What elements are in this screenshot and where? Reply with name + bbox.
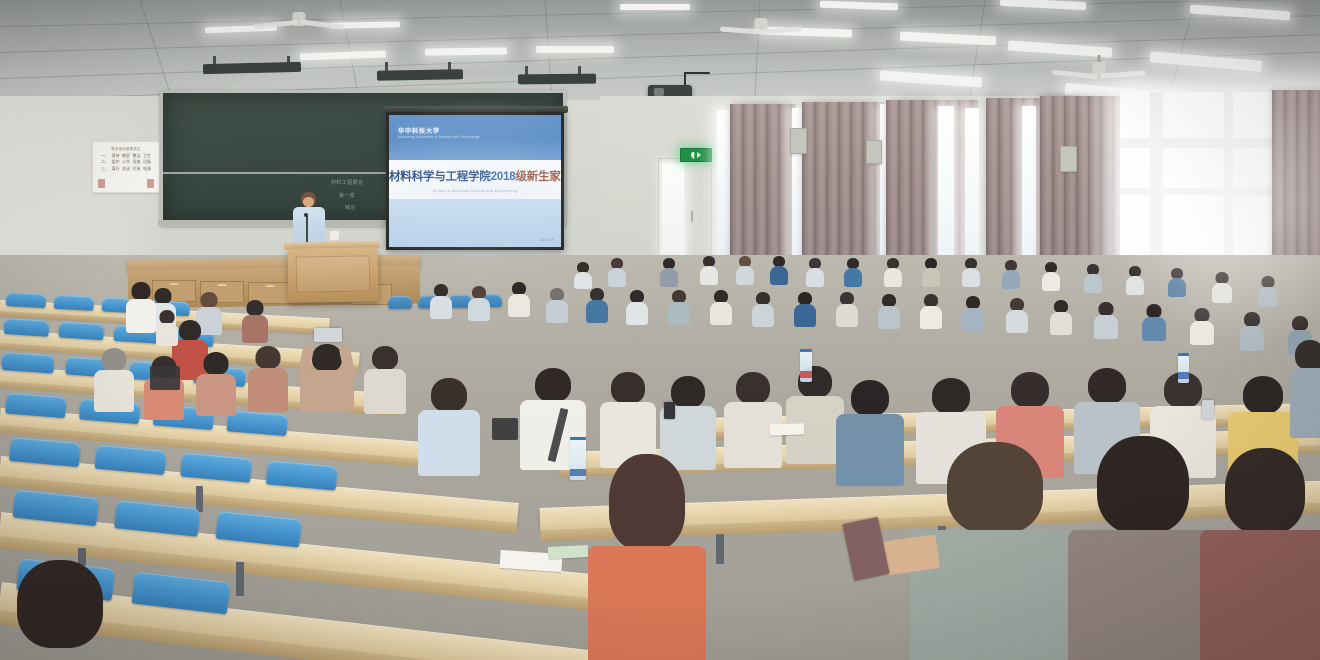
slide-subtitle-en: School of Materials Science and Engineer… bbox=[389, 189, 561, 193]
presentation-slide: 华中科技大学 Huazhong University of Science an… bbox=[389, 115, 561, 247]
audience-member bbox=[844, 258, 862, 286]
ceiling-fan bbox=[726, 18, 796, 38]
podium bbox=[288, 247, 379, 303]
slide-university-name-cn: 华中科技大学 bbox=[398, 126, 440, 135]
audience-member bbox=[962, 296, 984, 330]
slide-title-department: 材料科学与工程学院 bbox=[389, 171, 491, 183]
audience-member bbox=[1290, 340, 1320, 436]
audience-member-foreground bbox=[910, 442, 1080, 660]
exit-running-man-icon bbox=[691, 152, 695, 159]
poster-row: 三、 离开 关闭 灯具 电源 bbox=[93, 167, 159, 171]
audience-member bbox=[1042, 262, 1060, 290]
audience-member bbox=[626, 290, 648, 324]
audience-member bbox=[962, 258, 980, 286]
poster-row: 二、 爱护 公共 设施 设备 bbox=[93, 160, 159, 164]
handbag bbox=[492, 418, 518, 440]
wall-poster: 教室使用管理规定 一、 保持 教室 整洁 卫生 二、 爱护 公共 设施 设备 三… bbox=[92, 141, 160, 193]
audience-member bbox=[836, 380, 904, 484]
audience-member bbox=[196, 352, 236, 414]
wall-speaker bbox=[866, 140, 882, 164]
audience-member bbox=[736, 256, 754, 284]
poster-row: 一、 保持 教室 整洁 卫生 bbox=[93, 154, 159, 158]
audience-member bbox=[1190, 308, 1214, 344]
lecture-hall-photo: 教室使用管理规定 一、 保持 教室 整洁 卫生 二、 爱护 公共 设施 设备 三… bbox=[0, 0, 1320, 660]
presenter-face bbox=[303, 197, 314, 207]
suspended-light-fixture bbox=[377, 69, 463, 80]
audience-member bbox=[700, 256, 718, 284]
audience-member bbox=[836, 292, 858, 326]
slide-title-event: 级新生家长会 bbox=[516, 171, 562, 183]
audience-member bbox=[430, 284, 452, 318]
cup-on-podium bbox=[330, 231, 339, 240]
smartphone[interactable] bbox=[314, 328, 342, 342]
audience-member bbox=[608, 258, 626, 286]
water-bottle bbox=[800, 352, 812, 382]
chalkboard-writing: 绪论 bbox=[345, 204, 356, 213]
exit-arrow-icon bbox=[697, 152, 701, 158]
water-bottle bbox=[570, 440, 586, 480]
audience-member bbox=[242, 300, 268, 342]
audience-member bbox=[1084, 264, 1102, 292]
audience-member bbox=[364, 346, 406, 412]
slide-footer-band bbox=[389, 199, 561, 247]
audience-member bbox=[770, 256, 788, 284]
audience-member bbox=[586, 288, 608, 322]
audience-member bbox=[126, 282, 156, 332]
slide-title: 材料科学与工程学院2018级新生家长会 bbox=[389, 168, 561, 184]
paper-handout bbox=[770, 423, 804, 435]
audience-member bbox=[508, 282, 530, 316]
audience-member bbox=[1006, 298, 1028, 332]
microphone bbox=[304, 213, 308, 217]
ceiling-fan bbox=[262, 12, 336, 34]
audience-member bbox=[710, 290, 732, 324]
audience-member bbox=[884, 258, 902, 286]
audience-member bbox=[1142, 304, 1166, 340]
slide-footer-date: 2018.09 bbox=[540, 238, 554, 242]
audience-member-foreground bbox=[0, 560, 120, 660]
audience-member-foreground bbox=[588, 454, 706, 660]
audience-member bbox=[1094, 302, 1118, 338]
audience-member-foreground bbox=[1068, 436, 1218, 660]
audience-member bbox=[546, 288, 568, 322]
chalkboard-writing: 材料工程概论 bbox=[331, 179, 363, 188]
audience-member bbox=[794, 292, 816, 326]
audience-member bbox=[922, 258, 940, 286]
poster-title: 教室使用管理规定 bbox=[93, 146, 159, 151]
wall-speaker bbox=[790, 128, 807, 154]
audience-member bbox=[668, 290, 690, 324]
audience-member bbox=[1212, 272, 1232, 302]
audience-member bbox=[1050, 300, 1072, 334]
audience-member-child bbox=[156, 310, 178, 344]
audience-member bbox=[1126, 266, 1144, 294]
smartphone[interactable] bbox=[664, 402, 675, 419]
slide-university-name-en: Huazhong University of Science and Techn… bbox=[398, 135, 480, 139]
suspended-light-fixture bbox=[518, 74, 596, 85]
microphone-stand bbox=[306, 216, 308, 242]
audience-member bbox=[806, 258, 824, 286]
audience-member bbox=[878, 294, 900, 328]
audience-member bbox=[724, 372, 782, 468]
audience-member bbox=[1002, 260, 1020, 288]
slide-title-year: 2018 bbox=[491, 171, 516, 183]
smartphone[interactable] bbox=[1202, 400, 1214, 419]
audience-member-photographing bbox=[300, 326, 354, 410]
audience-member bbox=[1258, 276, 1278, 306]
audience-member bbox=[920, 294, 942, 328]
audience-member bbox=[248, 346, 288, 410]
chalkboard-writing: 第一章 bbox=[339, 192, 355, 201]
water-bottle bbox=[1178, 356, 1189, 383]
audience-member bbox=[94, 348, 134, 410]
audience-member bbox=[418, 378, 480, 474]
wall-speaker bbox=[1060, 146, 1077, 172]
audience-member bbox=[1168, 268, 1186, 296]
audience-member bbox=[660, 258, 678, 286]
emergency-exit-sign bbox=[680, 148, 712, 162]
audience-member-foreground bbox=[1200, 448, 1320, 660]
audience-member bbox=[752, 292, 774, 326]
paper-handout bbox=[548, 545, 589, 559]
projection-screen: 华中科技大学 Huazhong University of Science an… bbox=[386, 112, 564, 250]
audience-member bbox=[468, 286, 490, 320]
handbag bbox=[150, 366, 180, 390]
audience-member bbox=[574, 262, 592, 288]
audience-member bbox=[1240, 312, 1264, 350]
ceiling-fan bbox=[1060, 62, 1138, 84]
